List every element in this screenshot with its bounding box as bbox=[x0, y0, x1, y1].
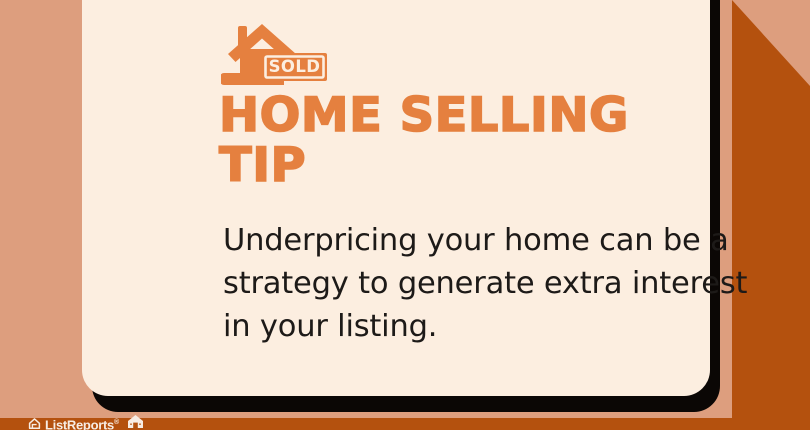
home-selling-tip-card: SOLD HOME SELLING TIP Underpricing your … bbox=[82, 0, 710, 396]
sold-sign-label: SOLD bbox=[269, 57, 321, 76]
sold-house-icon: SOLD bbox=[221, 21, 329, 87]
equal-housing-opportunity-icon bbox=[127, 414, 144, 430]
card-content: SOLD HOME SELLING TIP Underpricing your … bbox=[82, 0, 710, 396]
tip-body-text: Underpricing your home can be a strategy… bbox=[223, 219, 753, 348]
page-title: HOME SELLING TIP bbox=[219, 91, 698, 191]
listreports-wordmark: ListReports® bbox=[45, 416, 119, 430]
advertisement-screen: SOLD HOME SELLING TIP Underpricing your … bbox=[0, 0, 810, 430]
footer-bar: ListReports® bbox=[0, 416, 810, 430]
listreports-logo[interactable]: ListReports® bbox=[28, 415, 119, 430]
listreports-house-icon bbox=[28, 417, 41, 430]
